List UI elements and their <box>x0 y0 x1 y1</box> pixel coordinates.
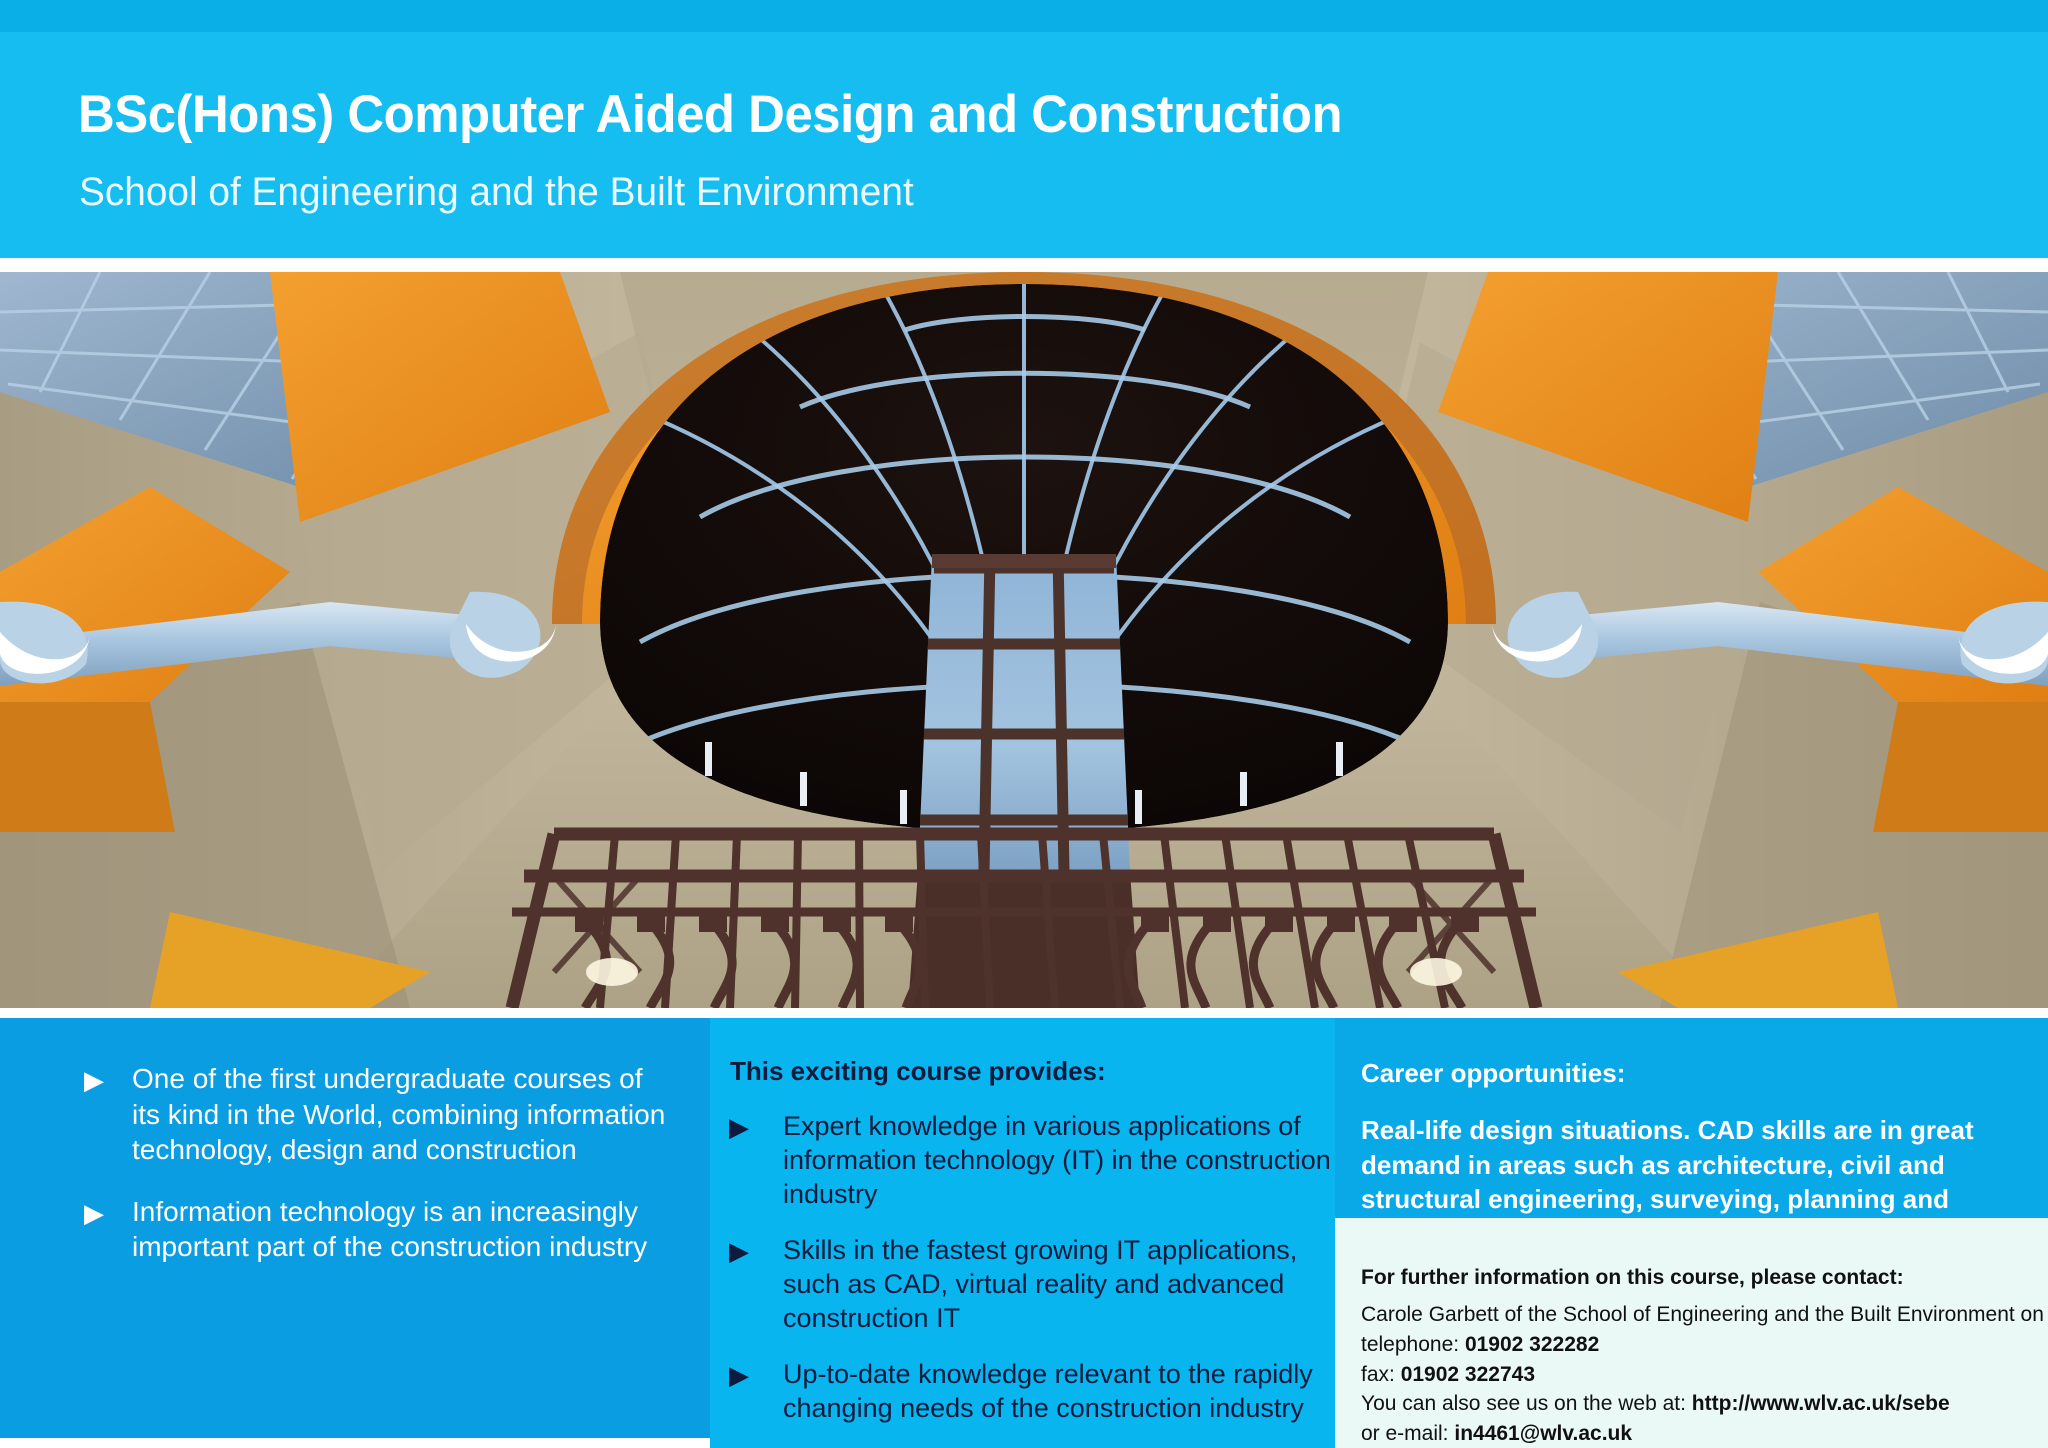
list-item: ▶ Information technology is an increasin… <box>84 1194 674 1265</box>
list-item-text: Skills in the fastest growing IT applica… <box>783 1233 1335 1335</box>
left-highlights-panel: ▶ One of the first undergraduate courses… <box>0 1018 710 1438</box>
career-opportunities-panel: Career opportunities: Real-life design s… <box>1335 1018 2048 1218</box>
bullet-arrow-icon: ▶ <box>729 1238 783 1264</box>
fax-value: 01902 322743 <box>1401 1363 1535 1386</box>
list-item-text: Expert knowledge in various applications… <box>783 1109 1335 1211</box>
web-url[interactable]: http://www.wlv.ac.uk/sebe <box>1692 1392 1950 1415</box>
contact-telephone-line: telephone: 01902 322282 <box>1361 1330 2031 1360</box>
list-item: ▶ Skills in the fastest growing IT appli… <box>725 1233 1335 1335</box>
list-item: ▶ Expert knowledge in various applicatio… <box>725 1109 1335 1211</box>
contact-email-line: or e-mail: in4461@wlv.ac.uk <box>1361 1419 2031 1448</box>
page-subtitle: School of Engineering and the Built Envi… <box>79 172 1728 212</box>
list-item: ▶ One of the first undergraduate courses… <box>84 1061 674 1168</box>
list-item-text: One of the first undergraduate courses o… <box>132 1061 674 1168</box>
telephone-value: 01902 322282 <box>1465 1333 1599 1356</box>
bullet-arrow-icon: ▶ <box>84 1067 132 1093</box>
web-label: You can also see us on the web at: <box>1361 1392 1692 1415</box>
telephone-label: telephone: <box>1361 1333 1465 1356</box>
contact-fax-line: fax: 01902 322743 <box>1361 1360 2031 1390</box>
career-heading: Career opportunities: <box>1361 1058 2021 1089</box>
list-item-text: Up-to-date knowledge relevant to the rap… <box>783 1357 1335 1425</box>
contact-info-box: For further information on this course, … <box>1335 1218 2048 1448</box>
brochure-page: BSc(Hons) Computer Aided Design and Cons… <box>0 0 2048 1448</box>
fax-label: fax: <box>1361 1363 1401 1386</box>
course-provides-panel: This exciting course provides: ▶ Expert … <box>710 1018 1335 1448</box>
contact-content: For further information on this course, … <box>1361 1266 2031 1448</box>
list-item: ▶ Up-to-date knowledge relevant to the r… <box>725 1357 1335 1425</box>
page-header: BSc(Hons) Computer Aided Design and Cons… <box>0 0 2048 258</box>
page-title: BSc(Hons) Computer Aided Design and Cons… <box>78 88 1710 141</box>
section-heading: This exciting course provides: <box>730 1056 1335 1087</box>
middle-content: This exciting course provides: ▶ Expert … <box>725 1056 1335 1448</box>
bullet-arrow-icon: ▶ <box>84 1200 132 1226</box>
header-top-strip <box>0 0 2048 32</box>
atrium-interior-illustration <box>0 272 2048 1008</box>
bullet-arrow-icon: ▶ <box>729 1114 783 1140</box>
list-item-text: Information technology is an increasingl… <box>132 1194 674 1265</box>
left-bullet-list: ▶ One of the first undergraduate courses… <box>84 1061 674 1291</box>
contact-web-line: You can also see us on the web at: http:… <box>1361 1389 2031 1419</box>
bottom-white-strip <box>0 1438 710 1448</box>
hero-photo <box>0 272 2048 1008</box>
contact-name-line: Carole Garbett of the School of Engineer… <box>1361 1300 2031 1330</box>
email-address[interactable]: in4461@wlv.ac.uk <box>1454 1422 1632 1445</box>
email-label: or e-mail: <box>1361 1422 1454 1445</box>
bullet-arrow-icon: ▶ <box>729 1362 783 1388</box>
contact-heading: For further information on this course, … <box>1361 1266 2031 1290</box>
